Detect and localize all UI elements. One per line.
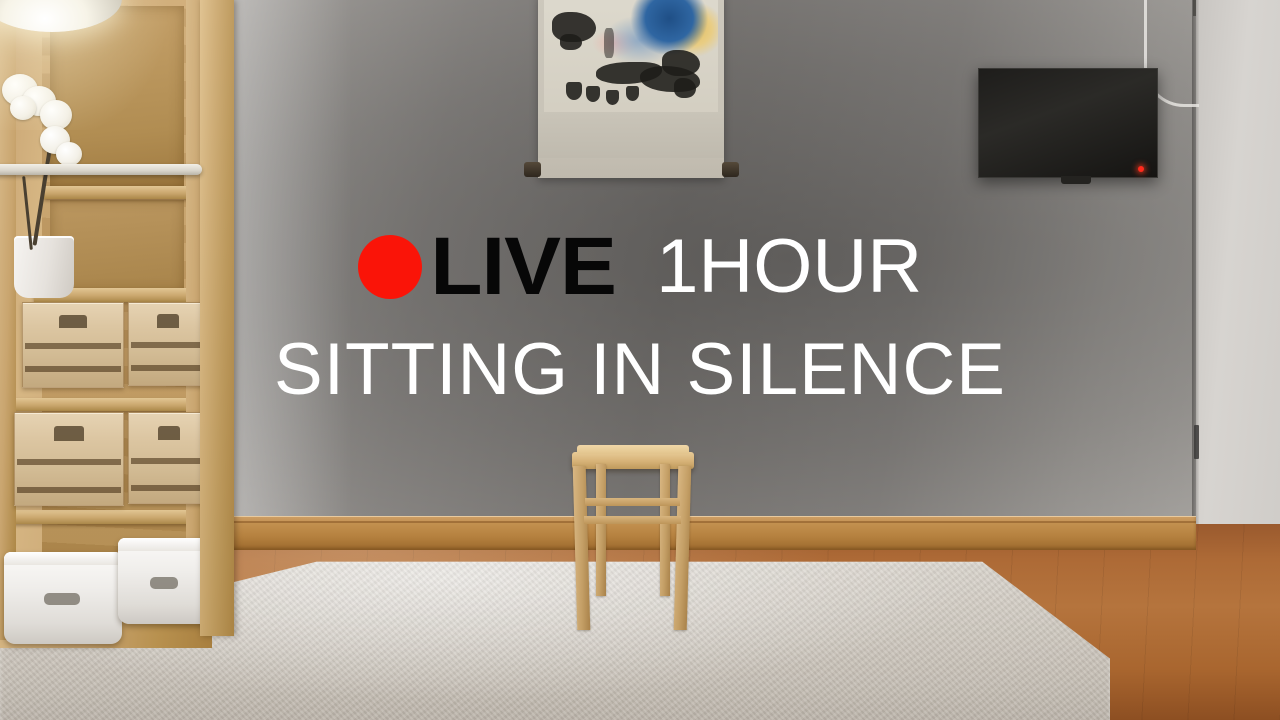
stool-rail-upper [585,498,680,506]
tv-mount [1061,176,1091,184]
scroll-artwork [544,0,718,130]
wooden-frame-post [200,0,234,636]
crate-slat [131,342,206,348]
crate-slat [131,485,208,491]
crate-handle [157,314,179,327]
storage-bin-right [118,538,212,624]
ink-brushstroke [626,86,639,101]
bin-lip [118,538,212,551]
crate-slat [25,343,121,349]
ink-brushstroke [662,50,700,76]
scroll-rod-cap-right [722,162,739,177]
stool-seat [572,452,694,469]
shelf-board-3 [10,398,206,411]
shelf-board-1 [44,186,192,199]
crate-slat [25,366,121,372]
ink-brushstroke [560,34,582,50]
crate-slat [131,365,206,371]
crate-handle [59,315,87,328]
bin-lip [4,552,122,565]
ink-brushstroke [586,86,600,102]
bin-grip [44,593,79,605]
orchid-bloom [10,96,36,120]
stool-rail-lower [584,516,681,524]
door-hinge [1194,425,1199,459]
ink-brushstroke [566,82,582,100]
wall-highlight [232,0,352,560]
scroll-rod [0,164,202,175]
scroll-rod-cap-left [524,162,541,177]
crate-slat [17,459,121,465]
baseboard [228,516,1196,550]
storage-bin-left [4,552,122,644]
tv-standby-led [1138,166,1144,172]
crate-slat [17,487,121,493]
hanging-scroll [538,0,724,178]
stool-leg-back-left [596,464,606,596]
orchid-bloom [56,142,82,166]
screenshot-stage: LIVE 1HOUR SITTING IN SILENCE [0,0,1280,720]
crate-1 [22,302,124,388]
ink-brushstroke [606,90,619,105]
flower-pot [14,236,74,298]
shelf-board-4 [0,510,210,524]
crate-3 [14,412,124,506]
ink-brushstroke [674,78,696,98]
crate-slat [131,458,208,464]
crate-4 [128,412,210,504]
crate-2 [128,302,208,386]
bin-grip [150,577,178,589]
crate-handle [158,426,180,440]
ink-brushstroke [604,28,614,58]
stool-leg-back-right [660,464,670,596]
wall-mounted-tv [978,68,1158,178]
right-wall [1196,0,1280,600]
scroll-mounting [538,112,724,158]
crate-handle [54,426,84,441]
shelving-unit [0,0,212,648]
